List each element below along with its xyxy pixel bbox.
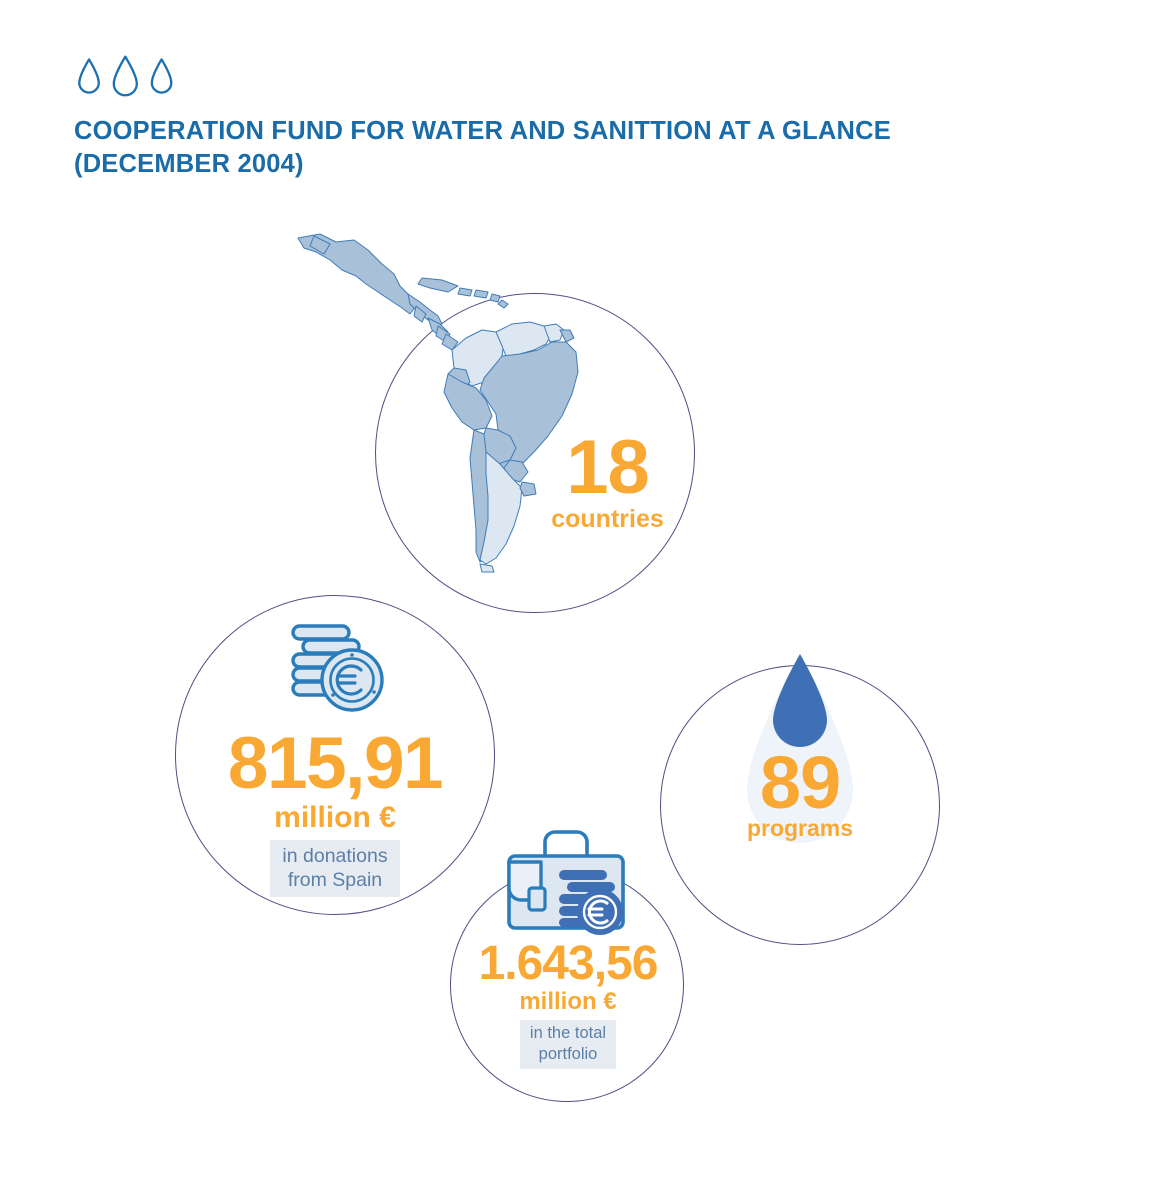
page-title: COOPERATION FUND FOR WATER AND SANITTION… [74,115,1014,180]
portfolio-note-line-2: portfolio [539,1045,598,1063]
donations-note-line-2: from Spain [288,869,382,891]
infographic-canvas: COOPERATION FUND FOR WATER AND SANITTION… [0,0,1150,1177]
programs-value: 89 [700,748,900,818]
countries-label: countries [520,506,695,534]
stat-programs: 89 programs [700,748,900,842]
portfolio-note: in the total portfolio [520,1020,616,1068]
briefcase-euro-icon [501,826,631,944]
donations-note-line-1: in donations [282,845,387,867]
coin-stack-euro-icon [281,622,391,717]
countries-value: 18 [520,432,695,504]
programs-label: programs [700,816,900,841]
donations-value: 815,91 [185,728,485,800]
portfolio-note-line-1: in the total [530,1024,606,1042]
page-title-line-2: (DECEMBER 2004) [74,148,1014,181]
water-drops-icon [74,55,178,101]
donations-unit: million € [185,801,485,834]
stat-donations: 815,91 million € in donations from Spain [185,728,485,897]
stat-portfolio: 1.643,56 million € in the total portfoli… [432,940,704,1069]
donations-note: in donations from Spain [270,840,399,898]
portfolio-unit: million € [432,989,704,1015]
page-title-line-1: COOPERATION FUND FOR WATER AND SANITTION… [74,115,1014,148]
portfolio-value: 1.643,56 [432,940,704,988]
stat-countries: 18 countries [520,432,695,534]
header: COOPERATION FUND FOR WATER AND SANITTION… [74,55,1014,180]
